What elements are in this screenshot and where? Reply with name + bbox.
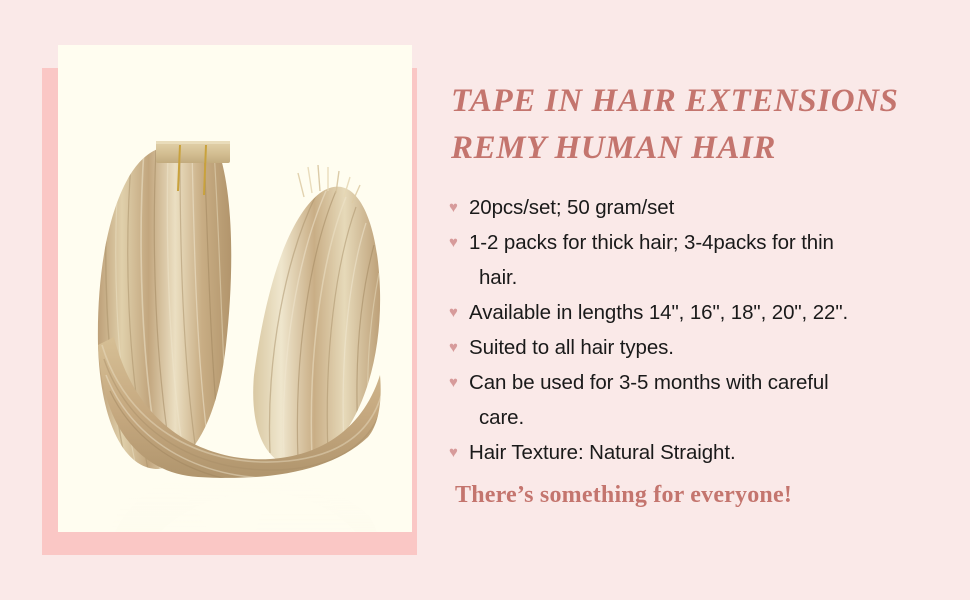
feature-item-label: 1-2 packs for thick hair; 3-4packs for t…	[469, 231, 834, 254]
hair-extension-illustration	[58, 45, 412, 532]
feature-item: ♥ 20pcs/set; 50 gram/set	[447, 190, 947, 225]
feature-item: ♥1-2 packs for thick hair; 3-4packs for …	[447, 225, 947, 260]
feature-item: ♥Suited to all hair types.	[447, 330, 947, 365]
heart-bullet-icon: ♥	[449, 365, 458, 400]
feature-item-label: Hair Texture: Natural Straight.	[469, 441, 736, 464]
heart-bullet-icon: ♥	[449, 435, 458, 470]
feature-item: ♥Available in lengths 14", 16", 18", 20"…	[447, 295, 947, 330]
product-copy-block: TAPE IN HAIR EXTENSIONS REMY HUMAN HAIR …	[447, 0, 947, 600]
feature-list: ♥ 20pcs/set; 50 gram/set♥1-2 packs for t…	[447, 190, 947, 470]
feature-item-label: 20pcs/set; 50 gram/set	[469, 196, 674, 219]
feature-item-label: care.	[479, 406, 524, 429]
product-photo-panel	[58, 45, 412, 532]
heart-bullet-icon: ♥	[449, 190, 458, 225]
feature-item: care.	[447, 400, 947, 435]
hair-reflection	[98, 474, 381, 532]
feature-item: ♥Can be used for 3-5 months with careful	[447, 365, 947, 400]
feature-item: ♥Hair Texture: Natural Straight.	[447, 435, 947, 470]
feature-item-label: Available in lengths 14", 16", 18", 20",…	[469, 301, 848, 324]
promo-banner: TAPE IN HAIR EXTENSIONS REMY HUMAN HAIR …	[0, 0, 970, 600]
tagline: There’s something for everyone!	[455, 479, 792, 511]
feature-item-label: Can be used for 3-5 months with careful	[469, 371, 829, 394]
feature-item-label: hair.	[479, 266, 517, 289]
product-image-block	[0, 0, 430, 600]
hair-extension-graphic	[58, 45, 412, 532]
headline-line-1: TAPE IN HAIR EXTENSIONS	[451, 83, 899, 119]
page-title: TAPE IN HAIR EXTENSIONS REMY HUMAN HAIR	[451, 78, 943, 172]
heart-bullet-icon: ♥	[449, 330, 458, 365]
heart-bullet-icon: ♥	[449, 225, 458, 260]
feature-item: hair.	[447, 260, 947, 295]
headline-line-2: REMY HUMAN HAIR	[451, 125, 943, 172]
feature-item-label: Suited to all hair types.	[469, 336, 674, 359]
heart-bullet-icon: ♥	[449, 295, 458, 330]
